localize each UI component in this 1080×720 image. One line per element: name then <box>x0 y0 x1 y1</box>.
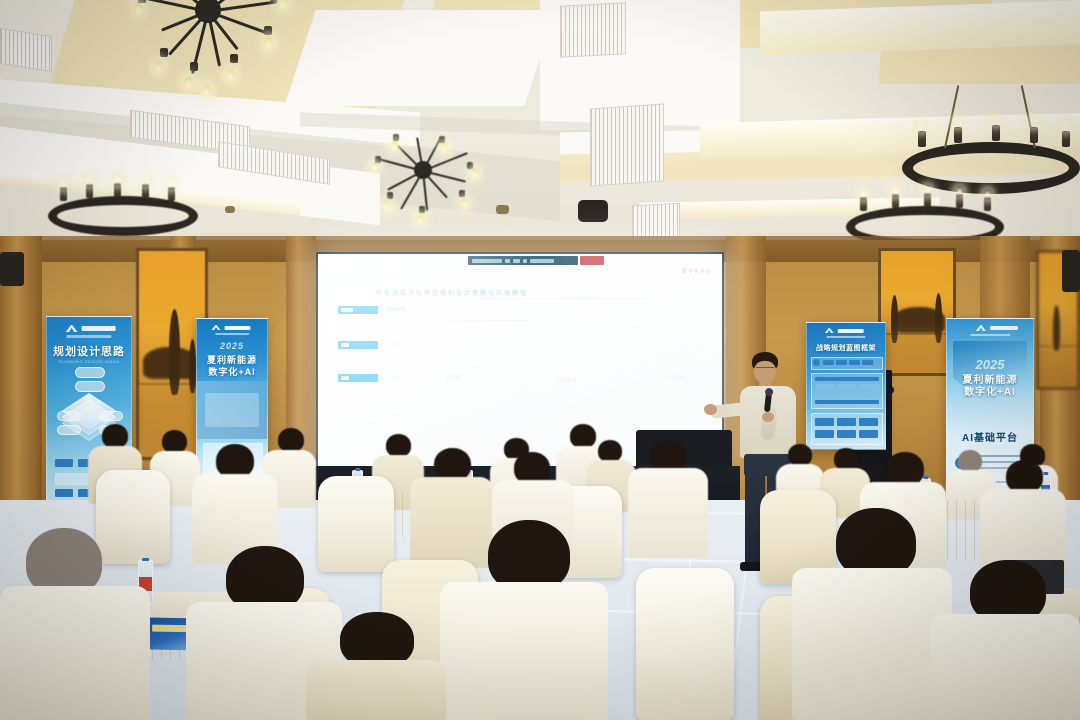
banquet-chair <box>636 568 734 720</box>
banner-subtitle-en: PLANNING DESIGN IDEAS <box>47 359 131 364</box>
banner-matrix <box>811 373 883 409</box>
smoke-detector-icon <box>496 205 509 214</box>
banner-org-line <box>970 334 1010 336</box>
matrix-cell <box>859 384 878 389</box>
audience-torso <box>306 660 446 720</box>
banner-org-line <box>215 333 249 335</box>
footer-cell <box>815 430 834 438</box>
banner-chip-2 <box>849 360 860 365</box>
banner-org-line <box>827 336 866 338</box>
hvac-vent <box>590 103 664 186</box>
wall-speaker <box>1062 250 1080 292</box>
sputnik-chandelier <box>423 170 426 173</box>
speaker-hand <box>704 404 717 415</box>
audience-torso <box>930 614 1080 720</box>
hvac-vent <box>632 203 680 240</box>
audience-member-front <box>440 520 608 720</box>
slide-nav-item-2[interactable] <box>338 374 378 382</box>
light-bulb <box>154 60 163 73</box>
hvac-vent <box>560 2 626 57</box>
audience-member-front <box>306 612 446 720</box>
matrix-cell <box>859 392 878 397</box>
light-bulb <box>134 2 143 15</box>
footer-cell <box>815 418 834 426</box>
wall-speaker <box>0 252 24 286</box>
light-bulb <box>371 162 378 172</box>
slide-nav-item-1[interactable] <box>338 341 378 349</box>
light-bulb <box>461 198 468 208</box>
light-bulb <box>383 200 390 210</box>
banner-year: 2025 <box>197 341 267 351</box>
conference-photo-scene: 数字化平台 新能源数字化转型规划设计思路与实施路径 总体架构 数据层 应用层 业… <box>0 0 1080 720</box>
banner-chip-1 <box>836 360 847 365</box>
ceiling-projector <box>578 200 608 222</box>
speaker-hand-mic <box>762 412 774 422</box>
light-bulb <box>184 76 193 89</box>
ceiling <box>0 0 1080 250</box>
ring-chandelier <box>48 196 198 236</box>
light-bulb <box>391 140 398 150</box>
audience-head <box>216 444 254 478</box>
banner-title-line2: 数字化+AI <box>947 383 1033 398</box>
light-bulb <box>441 142 448 152</box>
slide-watermark: 数字化平台 <box>682 268 712 275</box>
light-bulb <box>417 214 424 224</box>
footer-cell <box>859 430 878 438</box>
banner-section-title: AI基础平台 <box>947 429 1033 444</box>
hvac-vent <box>0 28 52 72</box>
audience-member-front <box>792 508 952 720</box>
audience-member <box>628 440 708 558</box>
slide-nav-label-1: 数据层 <box>386 341 401 348</box>
banner-footer-matrix <box>811 413 883 445</box>
light-bulb <box>278 0 287 9</box>
banner-bottom-tag-0 <box>55 489 73 497</box>
audience-member <box>980 460 1066 576</box>
audience-member-front <box>930 560 1080 720</box>
slide-nav-label-0: 总体架构 <box>386 306 406 313</box>
audience-head <box>886 452 924 486</box>
record-button[interactable] <box>580 256 604 265</box>
banner-chip-3 <box>862 360 873 365</box>
matrix-cell <box>815 392 834 397</box>
audience-torso <box>0 586 150 720</box>
matrix-cell <box>837 384 856 389</box>
slide-nav-item-0[interactable] <box>338 306 378 314</box>
matrix-cell <box>815 384 834 389</box>
cypress-tree <box>1053 305 1060 351</box>
slide-column-label-0: 业务域 <box>446 374 461 381</box>
slide-nav-label-2: 应用层 <box>386 374 401 381</box>
audience-torso <box>628 468 708 558</box>
banner-title: 规划设计思路 <box>47 343 131 359</box>
footer-cell <box>859 418 878 426</box>
slide-column-label-2: 技术底座 <box>666 374 686 381</box>
wall-art-painting-right <box>878 248 956 376</box>
audience-torso <box>440 582 608 720</box>
slide-toolbar[interactable] <box>468 256 578 265</box>
smoke-detector-icon <box>225 206 235 213</box>
slide-heading: 新能源数字化转型规划设计思路与实施路径 <box>376 288 528 297</box>
footer-cell <box>837 418 856 426</box>
banner-year: 2025 <box>947 357 1033 372</box>
audience-torso <box>792 568 952 720</box>
rollup-banner-roadmap: 战略规划蓝图框架 <box>806 322 886 450</box>
audience-member-front <box>0 528 150 720</box>
slide-column-label-1: 平台能力 <box>556 376 576 383</box>
matrix-cell <box>837 392 856 397</box>
light-bulb <box>226 68 235 81</box>
banner-org-line <box>66 335 111 338</box>
glasses-icon <box>756 367 774 372</box>
light-bulb <box>264 36 273 49</box>
banner-tag-0 <box>55 459 73 467</box>
banner-title-line2: 数字化+AI <box>197 365 267 378</box>
light-bulb <box>471 168 478 178</box>
banner-title: 战略规划蓝图框架 <box>807 343 885 353</box>
footer-cell <box>837 430 856 438</box>
light-bulb <box>202 84 211 97</box>
banner-chip-0 <box>823 360 834 365</box>
sputnik-chandelier <box>208 10 212 14</box>
